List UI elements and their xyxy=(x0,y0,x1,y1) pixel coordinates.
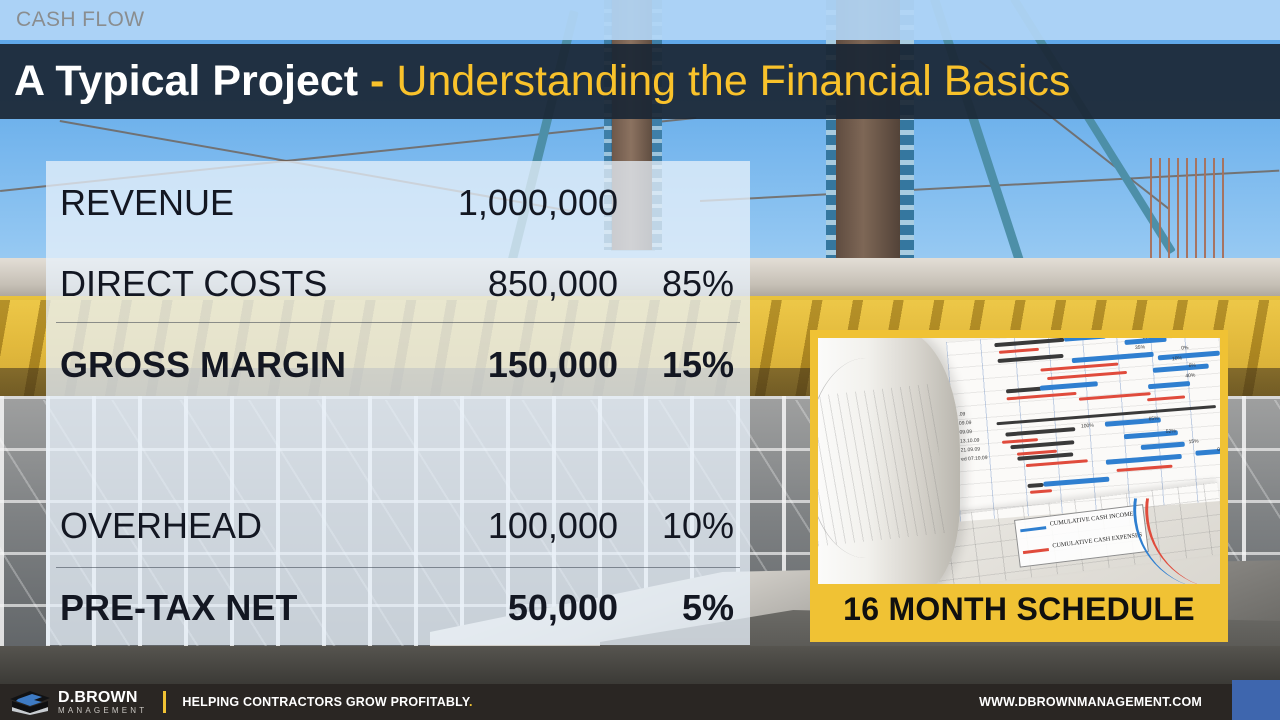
row-amount: 100,000 xyxy=(488,505,618,547)
table-row: GROSS MARGIN 150,000 15% xyxy=(46,339,750,391)
gantt-label: 0% xyxy=(1181,345,1189,352)
gantt-label: 40% xyxy=(1185,373,1195,380)
title-bar: A Typical Project - Understanding the Fi… xyxy=(0,44,1280,119)
slide-root: CASH FLOW A Typical Project - Understand… xyxy=(0,0,1280,720)
row-label: REVENUE xyxy=(60,182,234,224)
schedule-card[interactable]: 76% 60% 35% 0% 10% 6% 40% 100% 65% 52% 1… xyxy=(810,330,1228,642)
row-amount: 150,000 xyxy=(488,344,618,386)
gantt-label: 6% xyxy=(1188,362,1196,369)
schedule-caption: 16 MONTH SCHEDULE xyxy=(818,584,1220,634)
legend-label-expenses: CUMULATIVE CASH EXPENSES xyxy=(1052,531,1144,550)
footer-tagline-text: HELPING CONTRACTORS GROW PROFITABLY xyxy=(182,695,469,709)
financial-summary-panel: REVENUE 1,000,000 DIRECT COSTS 850,000 8… xyxy=(46,161,750,645)
row-label: PRE-TAX NET xyxy=(60,587,297,629)
title-dash: - xyxy=(358,57,396,105)
schedule-photo-gantt-printout: 76% 60% 35% 0% 10% 6% 40% 100% 65% 52% 1… xyxy=(818,338,1220,584)
row-percent: 10% xyxy=(632,505,734,547)
footer-bar: D.BROWN MANAGEMENT HELPING CONTRACTORS G… xyxy=(0,684,1280,720)
gantt-label: 10% xyxy=(1172,356,1182,363)
row-label: DIRECT COSTS xyxy=(60,263,327,305)
title-accent: Understanding the Financial Basics xyxy=(396,57,1070,105)
eyebrow-label: CASH FLOW xyxy=(16,8,144,32)
footer-brand: D.BROWN MANAGEMENT xyxy=(58,690,147,715)
row-amount: 50,000 xyxy=(508,587,618,629)
brand-name: D.BROWN xyxy=(58,690,147,706)
gantt-label: 100% xyxy=(1081,423,1094,430)
footer-tagline-dot: . xyxy=(469,695,473,709)
dbrown-logo-icon xyxy=(8,689,52,715)
row-percent: 15% xyxy=(632,344,734,386)
row-divider xyxy=(56,567,740,568)
gantt-label: 15% xyxy=(1188,438,1198,445)
eyebrow-strip: CASH FLOW xyxy=(0,0,1280,40)
table-row: PRE-TAX NET 50,000 5% xyxy=(46,582,750,634)
ground xyxy=(0,646,1280,686)
table-row: DIRECT COSTS 850,000 85% xyxy=(46,258,750,310)
gantt-label: 65% xyxy=(1148,416,1158,423)
page-title: A Typical Project - Understanding the Fi… xyxy=(14,60,1070,103)
row-label: GROSS MARGIN xyxy=(60,344,346,386)
gantt-label: 0% xyxy=(1217,446,1220,453)
row-amount: 1,000,000 xyxy=(458,182,618,224)
legend-swatch-expenses xyxy=(1023,548,1049,554)
footer-divider xyxy=(163,691,166,713)
row-percent: 5% xyxy=(632,587,734,629)
row-divider xyxy=(56,322,740,323)
gantt-label: 35% xyxy=(1135,344,1145,351)
footer-accent-square xyxy=(1232,680,1280,720)
table-row: REVENUE 1,000,000 xyxy=(46,177,750,229)
table-row: OVERHEAD 100,000 10% xyxy=(46,500,750,552)
row-label: OVERHEAD xyxy=(60,505,262,547)
rolled-drawing xyxy=(818,338,960,584)
rolled-drawing-linework xyxy=(818,384,947,547)
title-main: A Typical Project xyxy=(14,57,358,105)
gantt-date-column: .09 09.09 09.09 13.10.09 21.09.09 ed 07.… xyxy=(958,407,1025,497)
brand-subtitle: MANAGEMENT xyxy=(58,707,147,715)
row-percent: 85% xyxy=(632,263,734,305)
row-amount: 850,000 xyxy=(488,263,618,305)
footer-url[interactable]: WWW.DBROWNMANAGEMENT.COM xyxy=(979,695,1202,709)
footer-tagline: HELPING CONTRACTORS GROW PROFITABLY. xyxy=(182,695,472,709)
legend-swatch-income xyxy=(1020,526,1046,532)
gantt-label: 52% xyxy=(1166,428,1176,435)
